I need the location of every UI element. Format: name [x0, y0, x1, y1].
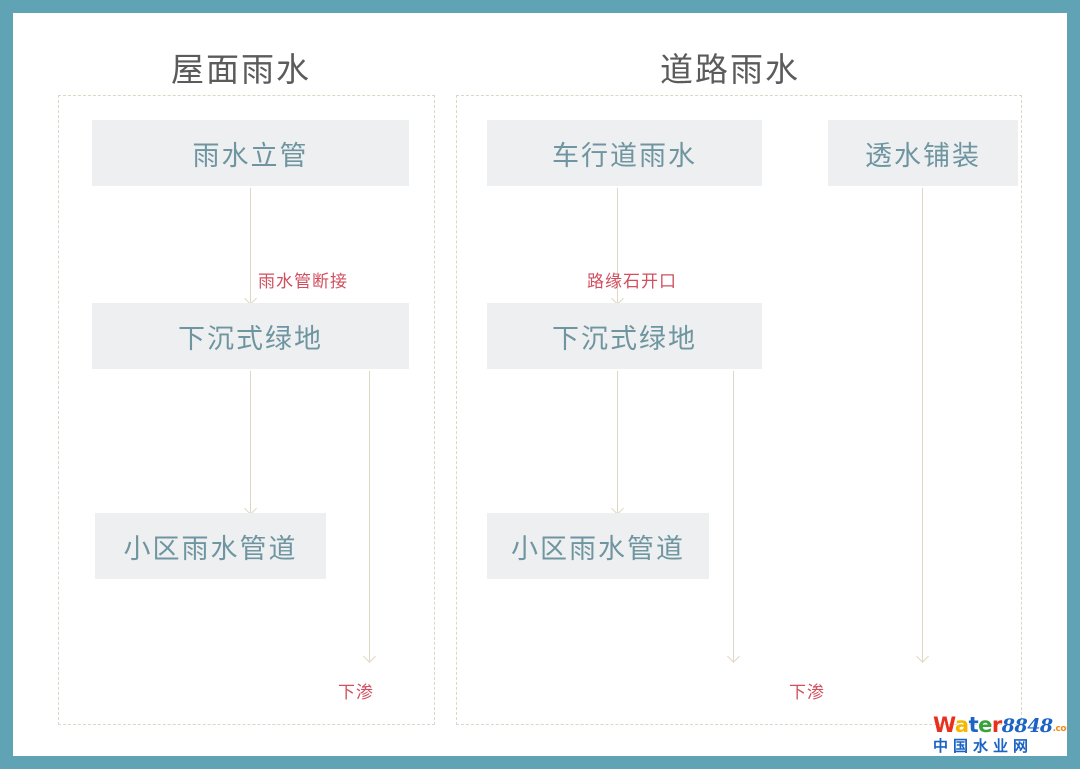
- arrow-head-icon: [363, 650, 376, 663]
- watermark-letter-e: e: [978, 713, 992, 737]
- annotation-curb-opening: 路缘石开口: [587, 267, 677, 292]
- arrow-road-sunken-green-to-infiltration: [727, 371, 741, 661]
- arrow-road-sunken-green-to-estate-pipe: [611, 371, 625, 513]
- node-label: 车行道雨水: [552, 134, 697, 173]
- node-roof-downpipe[interactable]: 雨水立管: [92, 120, 409, 186]
- watermark-logo: Water8848.com 中国水业网: [933, 715, 1065, 754]
- node-label: 下沉式绿地: [552, 317, 697, 356]
- node-label: 透水铺装: [865, 134, 981, 173]
- node-road-sunken-green[interactable]: 下沉式绿地: [487, 303, 762, 369]
- node-label: 小区雨水管道: [124, 527, 298, 566]
- watermark-number: 8848: [1002, 715, 1053, 737]
- arrow-shaft: [369, 371, 370, 661]
- watermark-letter-t: t: [969, 713, 979, 737]
- arrow-shaft: [250, 188, 251, 303]
- arrow-permeable-paving-to-infiltration: [916, 188, 930, 661]
- node-permeable-paving[interactable]: 透水铺装: [828, 120, 1018, 186]
- arrow-shaft: [250, 371, 251, 513]
- arrow-sunken-green-to-infiltration: [363, 371, 377, 661]
- arrow-shaft: [733, 371, 734, 661]
- arrow-sunken-green-to-estate-pipe: [244, 371, 258, 513]
- watermark-chinese-name: 中国水业网: [933, 739, 1065, 754]
- column-title-road: 道路雨水: [660, 43, 800, 91]
- node-roof-estate-pipe[interactable]: 小区雨水管道: [95, 513, 326, 579]
- diagram-canvas: 屋面雨水 道路雨水 雨水立管 下沉式绿地 小区雨水管道 雨水管断接: [13, 13, 1067, 756]
- arrow-downpipe-to-sunken-green: [244, 188, 258, 303]
- image-border-frame: 屋面雨水 道路雨水 雨水立管 下沉式绿地 小区雨水管道 雨水管断接: [0, 0, 1080, 769]
- node-road-estate-pipe[interactable]: 小区雨水管道: [487, 513, 709, 579]
- node-roof-sunken-green[interactable]: 下沉式绿地: [92, 303, 409, 369]
- arrow-head-icon: [916, 650, 929, 663]
- node-road-carriageway[interactable]: 车行道雨水: [487, 120, 762, 186]
- watermark-letter-a: a: [955, 713, 969, 737]
- watermark-brand: Water8848.com: [933, 715, 1065, 736]
- watermark-domain: .com: [1053, 724, 1067, 734]
- annotation-rainpipe-disconnection: 雨水管断接: [258, 267, 348, 292]
- watermark-letter-w: W: [933, 713, 955, 737]
- arrow-head-icon: [727, 650, 740, 663]
- node-label: 雨水立管: [193, 134, 309, 173]
- arrow-shaft: [617, 371, 618, 513]
- column-title-roof: 屋面雨水: [171, 43, 311, 91]
- annotation-roof-infiltration: 下渗: [338, 678, 374, 703]
- watermark-letter-r: r: [992, 713, 1002, 737]
- arrow-shaft: [922, 188, 923, 661]
- annotation-road-infiltration: 下渗: [789, 678, 825, 703]
- node-label: 下沉式绿地: [178, 317, 323, 356]
- node-label: 小区雨水管道: [511, 527, 685, 566]
